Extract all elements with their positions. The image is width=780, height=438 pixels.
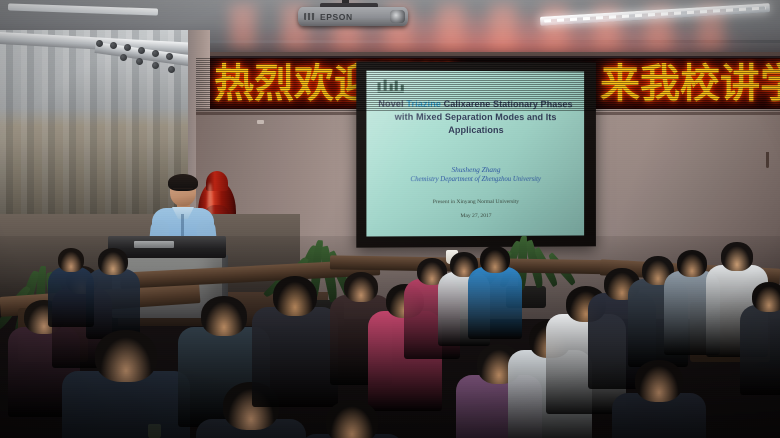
audience-person: [48, 248, 94, 332]
slide-affiliation: Chemistry Department of Zhengzhou Univer…: [372, 175, 578, 184]
audience-person-head: [95, 330, 157, 382]
slide-title-highlight: Triazine: [406, 99, 441, 109]
slide-title: Novel Triazine Calixarene Stationary Pha…: [372, 98, 578, 138]
slide-author: Shusheng Zhang: [372, 165, 578, 174]
lecture-hall-photo: EPSON 热烈欢迎郑州 来我校讲学: [0, 0, 780, 438]
glasses-icon: [173, 188, 193, 193]
audience-person: [300, 400, 404, 438]
audience-person: [740, 282, 780, 402]
audience-person-head: [721, 242, 753, 271]
audience-person-head: [273, 276, 317, 316]
projector-lens-icon: [390, 10, 405, 23]
slide-title-post: Calixarene Stationary Phases: [441, 99, 573, 109]
audience-person-head: [201, 296, 247, 336]
slide-title-pre: Novel: [378, 99, 406, 109]
curtain-rings: [0, 0, 200, 90]
audience-person-body: [86, 269, 140, 339]
seated-audience: [0, 236, 780, 438]
audience-person-head: [98, 248, 128, 275]
audience-person-body: [740, 305, 780, 395]
projection-screen: Novel Triazine Calixarene Stationary Pha…: [356, 61, 596, 247]
university-logo-icon: [378, 79, 404, 91]
slide-date: May 27, 2017: [372, 212, 578, 221]
wall-hook: [766, 152, 769, 168]
audience-person-head: [752, 282, 780, 312]
slide-title-line3: Applications: [448, 125, 503, 135]
projector-body: EPSON: [298, 7, 408, 26]
presentation-slide: Novel Triazine Calixarene Stationary Pha…: [366, 70, 584, 236]
audience-person-head: [677, 250, 707, 277]
audience-person: [62, 330, 190, 438]
audience-person-head: [635, 360, 683, 402]
audience-person-head: [58, 248, 84, 272]
projector-brand-label: EPSON: [320, 12, 353, 22]
audience-person-head: [326, 400, 378, 438]
led-banner-text-right: 来我校讲学: [600, 63, 780, 105]
audience-person: [252, 276, 338, 416]
audience-person: [612, 360, 706, 438]
wall-vent: [257, 120, 264, 124]
audience-person-head: [480, 246, 510, 273]
audience-person-body: [48, 267, 94, 327]
slide-venue: Present in Xinyang Normal University: [372, 198, 578, 207]
slide-title-line2: with Mixed Separation Modes and Its: [395, 112, 557, 122]
audience-person-body: [252, 307, 338, 407]
ceiling-projector: EPSON: [298, 2, 408, 29]
projector-vent: [304, 13, 315, 20]
